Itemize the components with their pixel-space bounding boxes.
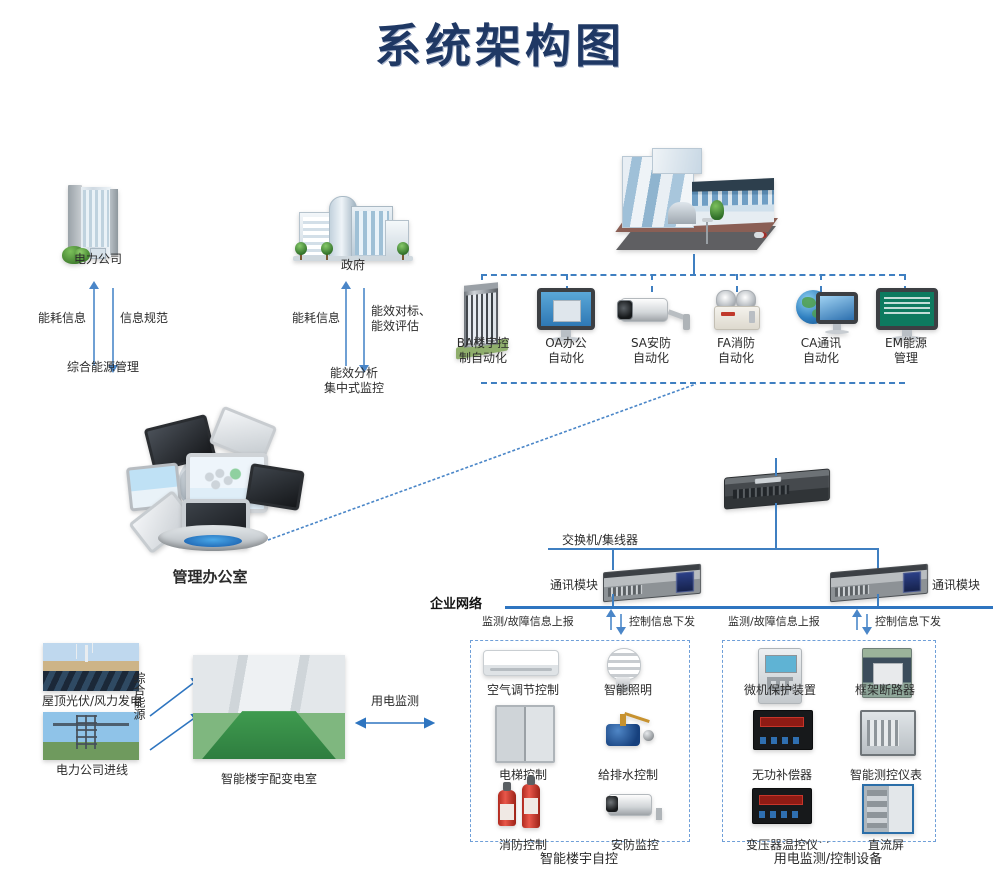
- device-label-dc: 直流屏: [846, 838, 926, 853]
- device-label-water: 给排水控制: [583, 768, 673, 783]
- subsystem-label-sa: SA安防 自动化: [611, 336, 691, 366]
- multi-screen-globe-icon: [120, 415, 300, 555]
- architecture-diagram: 系统架构图 电力公司 能耗信息 信息规范 综合能源管理 政府 能耗信息 能效对标…: [0, 0, 1000, 889]
- device-label-compensator: 无功补偿器: [737, 768, 827, 783]
- device-group-ellipsis: ······: [790, 836, 833, 851]
- government-down-arrow-label: 能效对标、 能效评估: [371, 304, 451, 334]
- flow-label-down-left: 控制信息下发: [629, 615, 725, 629]
- device-label-meter: 智能测控仪表: [836, 768, 936, 783]
- smart-meter-icon: [860, 710, 916, 756]
- subsystem-bus-line: [481, 274, 905, 276]
- utility-pylon-photo: [43, 712, 139, 760]
- reactive-compensator-icon: [753, 710, 813, 750]
- page-title: 系统架构图: [0, 10, 1000, 76]
- fire-extinguisher-icon: [498, 782, 550, 832]
- subsystem-label-oa: OA办公 自动化: [526, 336, 606, 366]
- device-label-ac: 空气调节控制: [478, 683, 568, 698]
- power-company-down-arrow-label: 信息规范: [120, 311, 200, 326]
- flow-arrows-right: [854, 612, 872, 630]
- communication-module-icon-left: [603, 564, 701, 603]
- rooftop-pv-wind-photo: [43, 643, 139, 691]
- security-camera-icon: [620, 292, 682, 332]
- comm-drop-right: [877, 548, 879, 570]
- energy-source-label-grid: 电力公司进线: [22, 763, 162, 778]
- elevator-icon: [495, 705, 555, 763]
- power-company-up-arrow: [93, 288, 95, 366]
- government-up-arrow-label: 能耗信息: [268, 311, 340, 326]
- comm-module-label-left: 通讯模块: [508, 578, 598, 593]
- device-label-security: 安防监控: [590, 838, 680, 853]
- government-down-arrow: [363, 288, 365, 366]
- power-company-down-arrow: [112, 288, 114, 366]
- smart-building-3d-icon: [606, 148, 782, 254]
- communication-module-icon-right: [830, 564, 928, 603]
- comm-drop-left: [612, 548, 614, 570]
- air-conditioner-icon: [483, 650, 559, 676]
- flow-label-down-right: 控制信息下发: [875, 615, 971, 629]
- office-to-network-link: [268, 382, 698, 542]
- management-office-label: 管理办公室: [120, 570, 300, 585]
- power-monitoring-arrow-label: 用电监测: [352, 694, 438, 709]
- switch-label: 交换机/集线器: [530, 533, 670, 548]
- government-building-icon: [293, 190, 413, 262]
- integrated-energy-management-label: 综合能源管理: [33, 360, 173, 375]
- enterprise-network-label: 企业网络: [430, 597, 510, 612]
- surveillance-camera-icon: [608, 790, 664, 820]
- device-label-breaker: 框架断路器: [840, 683, 930, 698]
- flow-label-up-left: 监测/故障信息上报: [482, 615, 608, 629]
- substation-room-photo: [193, 655, 345, 759]
- energy-arrow-label: 综合能源: [130, 672, 146, 720]
- switch-downlink: [775, 503, 777, 548]
- device-label-relay: 微机保护装置: [733, 683, 827, 698]
- switch-uplink: [775, 458, 777, 476]
- device-group-caption-building: 智能楼宇自控: [489, 852, 669, 867]
- device-label-lighting: 智能照明: [588, 683, 668, 698]
- subsystem-label-fa: FA消防 自动化: [696, 336, 776, 366]
- comm-module-label-right: 通讯模块: [932, 578, 1000, 593]
- enterprise-network-line: [505, 606, 993, 609]
- subsystem-label-ba: BA楼宇控 制自动化: [441, 336, 525, 366]
- substation-label: 智能楼宇配变电室: [189, 772, 349, 787]
- flow-arrows-left: [608, 612, 626, 630]
- comm-bus-line: [548, 548, 878, 550]
- globe-monitor-icon: [796, 288, 858, 340]
- water-valve-icon: [598, 710, 654, 754]
- energy-dashboard-monitor-icon: [876, 288, 938, 342]
- emergency-light-icon: [714, 290, 760, 330]
- device-label-elevator: 电梯控制: [483, 768, 563, 783]
- device-label-fire: 消防控制: [483, 838, 563, 853]
- government-up-arrow: [345, 288, 347, 366]
- subsystem-label-ca: CA通讯 自动化: [781, 336, 861, 366]
- power-company-label: 电力公司: [38, 252, 158, 267]
- government-label: 政府: [293, 258, 413, 273]
- subsystem-drop-3: [651, 274, 653, 292]
- building-to-bus-connector: [693, 254, 695, 274]
- power-monitoring-double-arrow: [352, 714, 438, 726]
- flow-label-up-right: 监测/故障信息上报: [728, 615, 854, 629]
- device-group-caption-power: 用电监测/控制设备: [738, 852, 918, 867]
- dc-panel-icon: [862, 784, 914, 834]
- subsystem-label-em: EM能源 管理: [866, 336, 946, 366]
- power-company-building-icon: [68, 185, 128, 261]
- network-switch-icon: [724, 468, 830, 509]
- transformer-temp-controller-icon: [752, 788, 812, 824]
- power-company-up-arrow-label: 能耗信息: [10, 311, 86, 326]
